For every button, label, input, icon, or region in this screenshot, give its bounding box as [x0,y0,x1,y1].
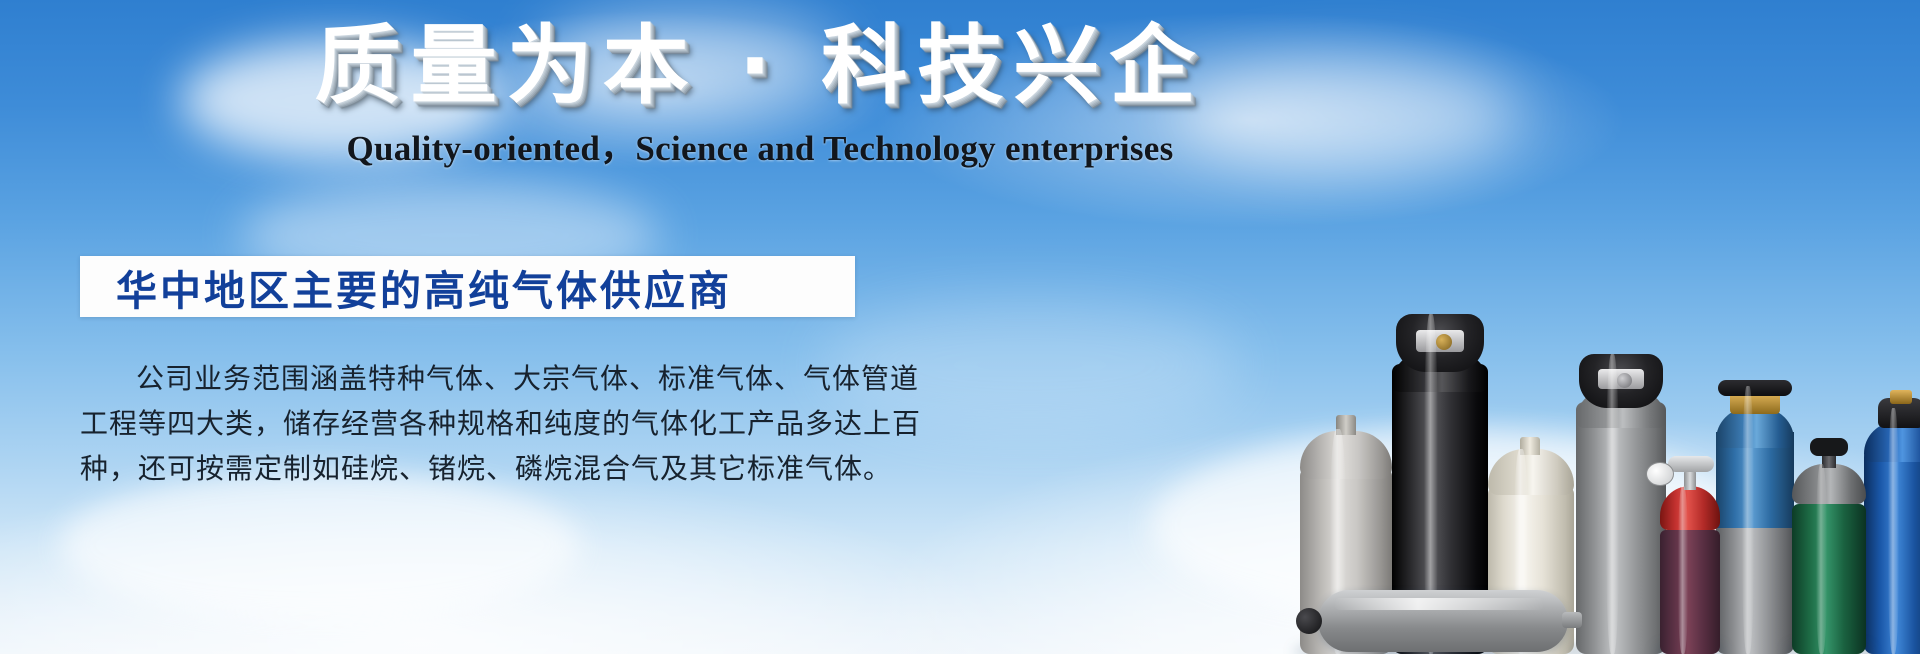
cylinder-horizontal-neck [1562,612,1582,628]
cylinder-blue-banded [1716,386,1794,654]
cylinder-guard [1718,380,1792,396]
body-line: 工程等四大类，储存经营各种规格和纯度的气体化工产品多达上百 [80,401,870,446]
gas-cylinder-group [1280,184,1920,654]
cylinder-valve-knob [1436,334,1452,350]
body-paragraph: 公司业务范围涵盖特种气体、大宗气体、标准气体、气体管道 工程等四大类，储存经营各… [80,356,870,491]
cylinder-horizontal-valve [1296,608,1322,634]
headline-english: Quality-oriented，Science and Technology … [0,120,1520,171]
cylinder-pressure-gauge [1646,462,1674,486]
highlight-box: 华中地区主要的高纯气体供应商 [80,256,855,317]
cylinder-grey-horizontal [1318,590,1568,652]
highlight-text: 华中地区主要的高纯气体供应商 [80,257,732,317]
cloud-decoration [60,470,580,620]
promotional-banner: 质量为本 · 科技兴企 Quality-oriented，Science and… [0,0,1920,654]
cylinder-cap [1810,438,1848,456]
body-line: 种，还可按需定制如硅烷、锗烷、磷烷混合气及其它标准气体。 [80,446,870,491]
cylinder-valve-handle [1668,456,1714,472]
cylinder-blue-bright [1864,408,1920,654]
cylinder-grey-tall-capped [1576,354,1666,654]
cylinder-valve-knob [1617,373,1632,388]
cylinder-valve-brass [1890,390,1912,404]
headline-block: 质量为本 · 科技兴企 Quality-oriented，Science and… [0,18,1520,171]
body-line: 公司业务范围涵盖特种气体、大宗气体、标准气体、气体管道 [80,356,870,401]
cylinder-red-small-valve [1660,486,1720,654]
headline-chinese: 质量为本 · 科技兴企 [315,18,1206,114]
cylinder-green-base [1792,464,1866,654]
